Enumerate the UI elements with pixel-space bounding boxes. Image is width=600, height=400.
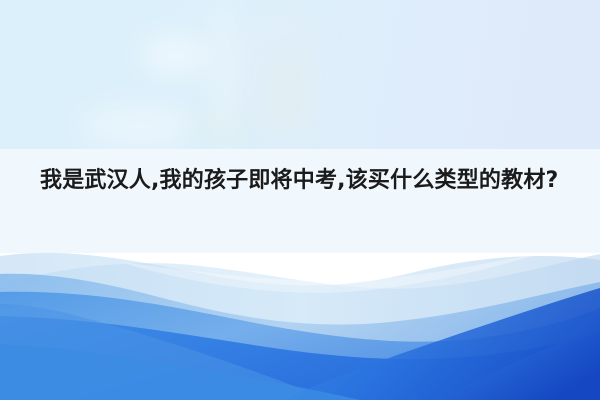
decorative-blotch-icon: [262, 50, 312, 140]
title-card: 我是武汉人,我的孩子即将中考,该买什么类型的教材?: [0, 0, 600, 400]
wave-layer-9: [0, 344, 360, 400]
wave-layer-4: [0, 292, 600, 400]
decorative-blotch-icon: [236, 10, 326, 140]
wave-layer-6: [0, 304, 330, 400]
title-band: [0, 149, 600, 253]
decorative-blotch-icon: [140, 35, 210, 75]
decorative-blotch-icon: [195, 110, 255, 142]
wave-layer-2: [0, 254, 600, 400]
top-background-panel: [0, 0, 600, 149]
wave-highlight: [120, 252, 545, 293]
wave-layer-5: [0, 316, 600, 400]
decorative-blotch-icon: [210, 0, 240, 150]
wave-layer-7: [285, 288, 600, 400]
page-title: 我是武汉人,我的孩子即将中考,该买什么类型的教材?: [40, 166, 568, 196]
wave-layer-8: [444, 326, 600, 400]
wave-layer-1: [0, 253, 600, 400]
wave-layer-3: [0, 274, 600, 400]
decorative-blotch-icon: [80, 105, 200, 147]
